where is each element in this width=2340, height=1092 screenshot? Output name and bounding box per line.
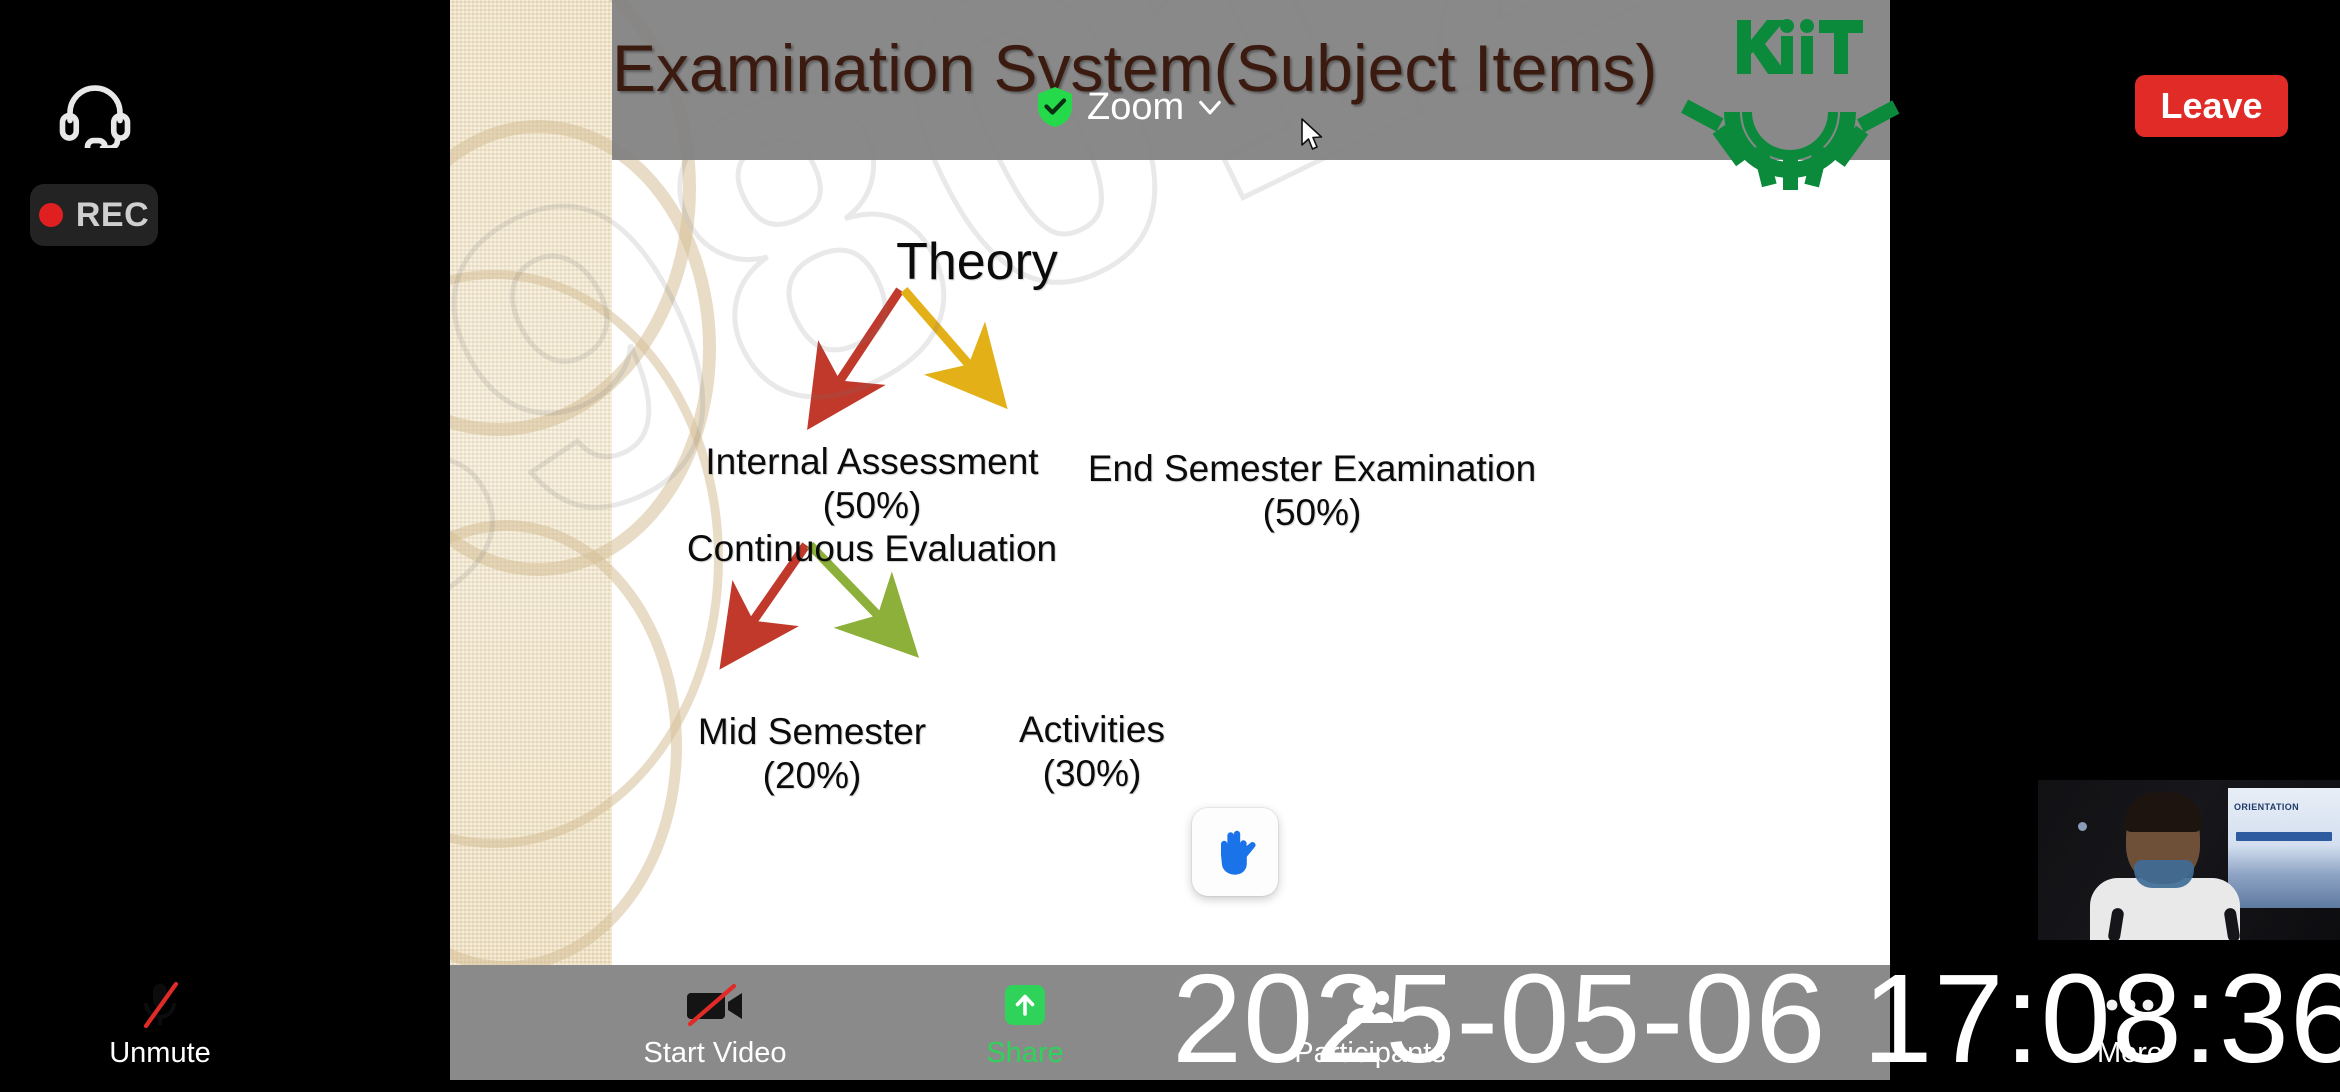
share-screen-icon bbox=[1001, 977, 1049, 1033]
projected-slide-title: ORIENTATION bbox=[2234, 802, 2299, 812]
chevron-down-icon[interactable] bbox=[1196, 93, 1224, 121]
timestamp-overlay: 2025-05-06 17:08:36 bbox=[1172, 956, 2340, 1082]
speaker-mask bbox=[2134, 860, 2194, 888]
record-dot-icon bbox=[39, 203, 63, 227]
kiit-logo bbox=[1665, 0, 1915, 190]
microphone-muted-icon bbox=[132, 977, 188, 1033]
diagram-node-end-semester: End Semester Examination (50%) bbox=[1077, 447, 1547, 534]
projected-slide: ORIENTATION bbox=[2228, 788, 2340, 908]
zoom-meeting-window: REC bbox=[0, 0, 2340, 1080]
unmute-button[interactable]: Unmute bbox=[60, 977, 260, 1070]
diagram-node-internal-assessment: Internal Assessment (50%) Continuous Eva… bbox=[662, 440, 1082, 571]
share-screen-button[interactable]: Share bbox=[920, 965, 1130, 1092]
raise-hand-button[interactable] bbox=[1192, 808, 1278, 896]
projected-slide-caption-bar bbox=[2236, 832, 2332, 841]
start-video-button[interactable]: Start Video bbox=[610, 965, 820, 1092]
recording-badge: REC bbox=[30, 184, 158, 246]
recording-label: REC bbox=[76, 196, 149, 235]
raise-hand-icon bbox=[1212, 827, 1258, 877]
slide-decorative-sidebar bbox=[450, 0, 612, 965]
speaker-video-thumbnail[interactable]: ORIENTATION bbox=[2038, 780, 2340, 940]
diagram-node-activities: Activities (30%) bbox=[942, 708, 1242, 795]
unmute-label: Unmute bbox=[109, 1037, 211, 1070]
video-camera-off-icon bbox=[684, 977, 746, 1033]
mouse-cursor bbox=[1300, 118, 1326, 152]
share-label: Share bbox=[986, 1037, 1063, 1070]
encryption-status[interactable]: Zoom bbox=[1035, 85, 1224, 129]
background-light bbox=[2078, 822, 2087, 831]
leave-button[interactable]: Leave bbox=[2135, 75, 2288, 137]
diagram-node-theory: Theory bbox=[842, 232, 1112, 293]
shield-check-icon bbox=[1035, 85, 1075, 129]
headset-icon[interactable] bbox=[55, 78, 135, 148]
start-video-label: Start Video bbox=[644, 1037, 787, 1070]
encryption-label: Zoom bbox=[1087, 86, 1184, 129]
